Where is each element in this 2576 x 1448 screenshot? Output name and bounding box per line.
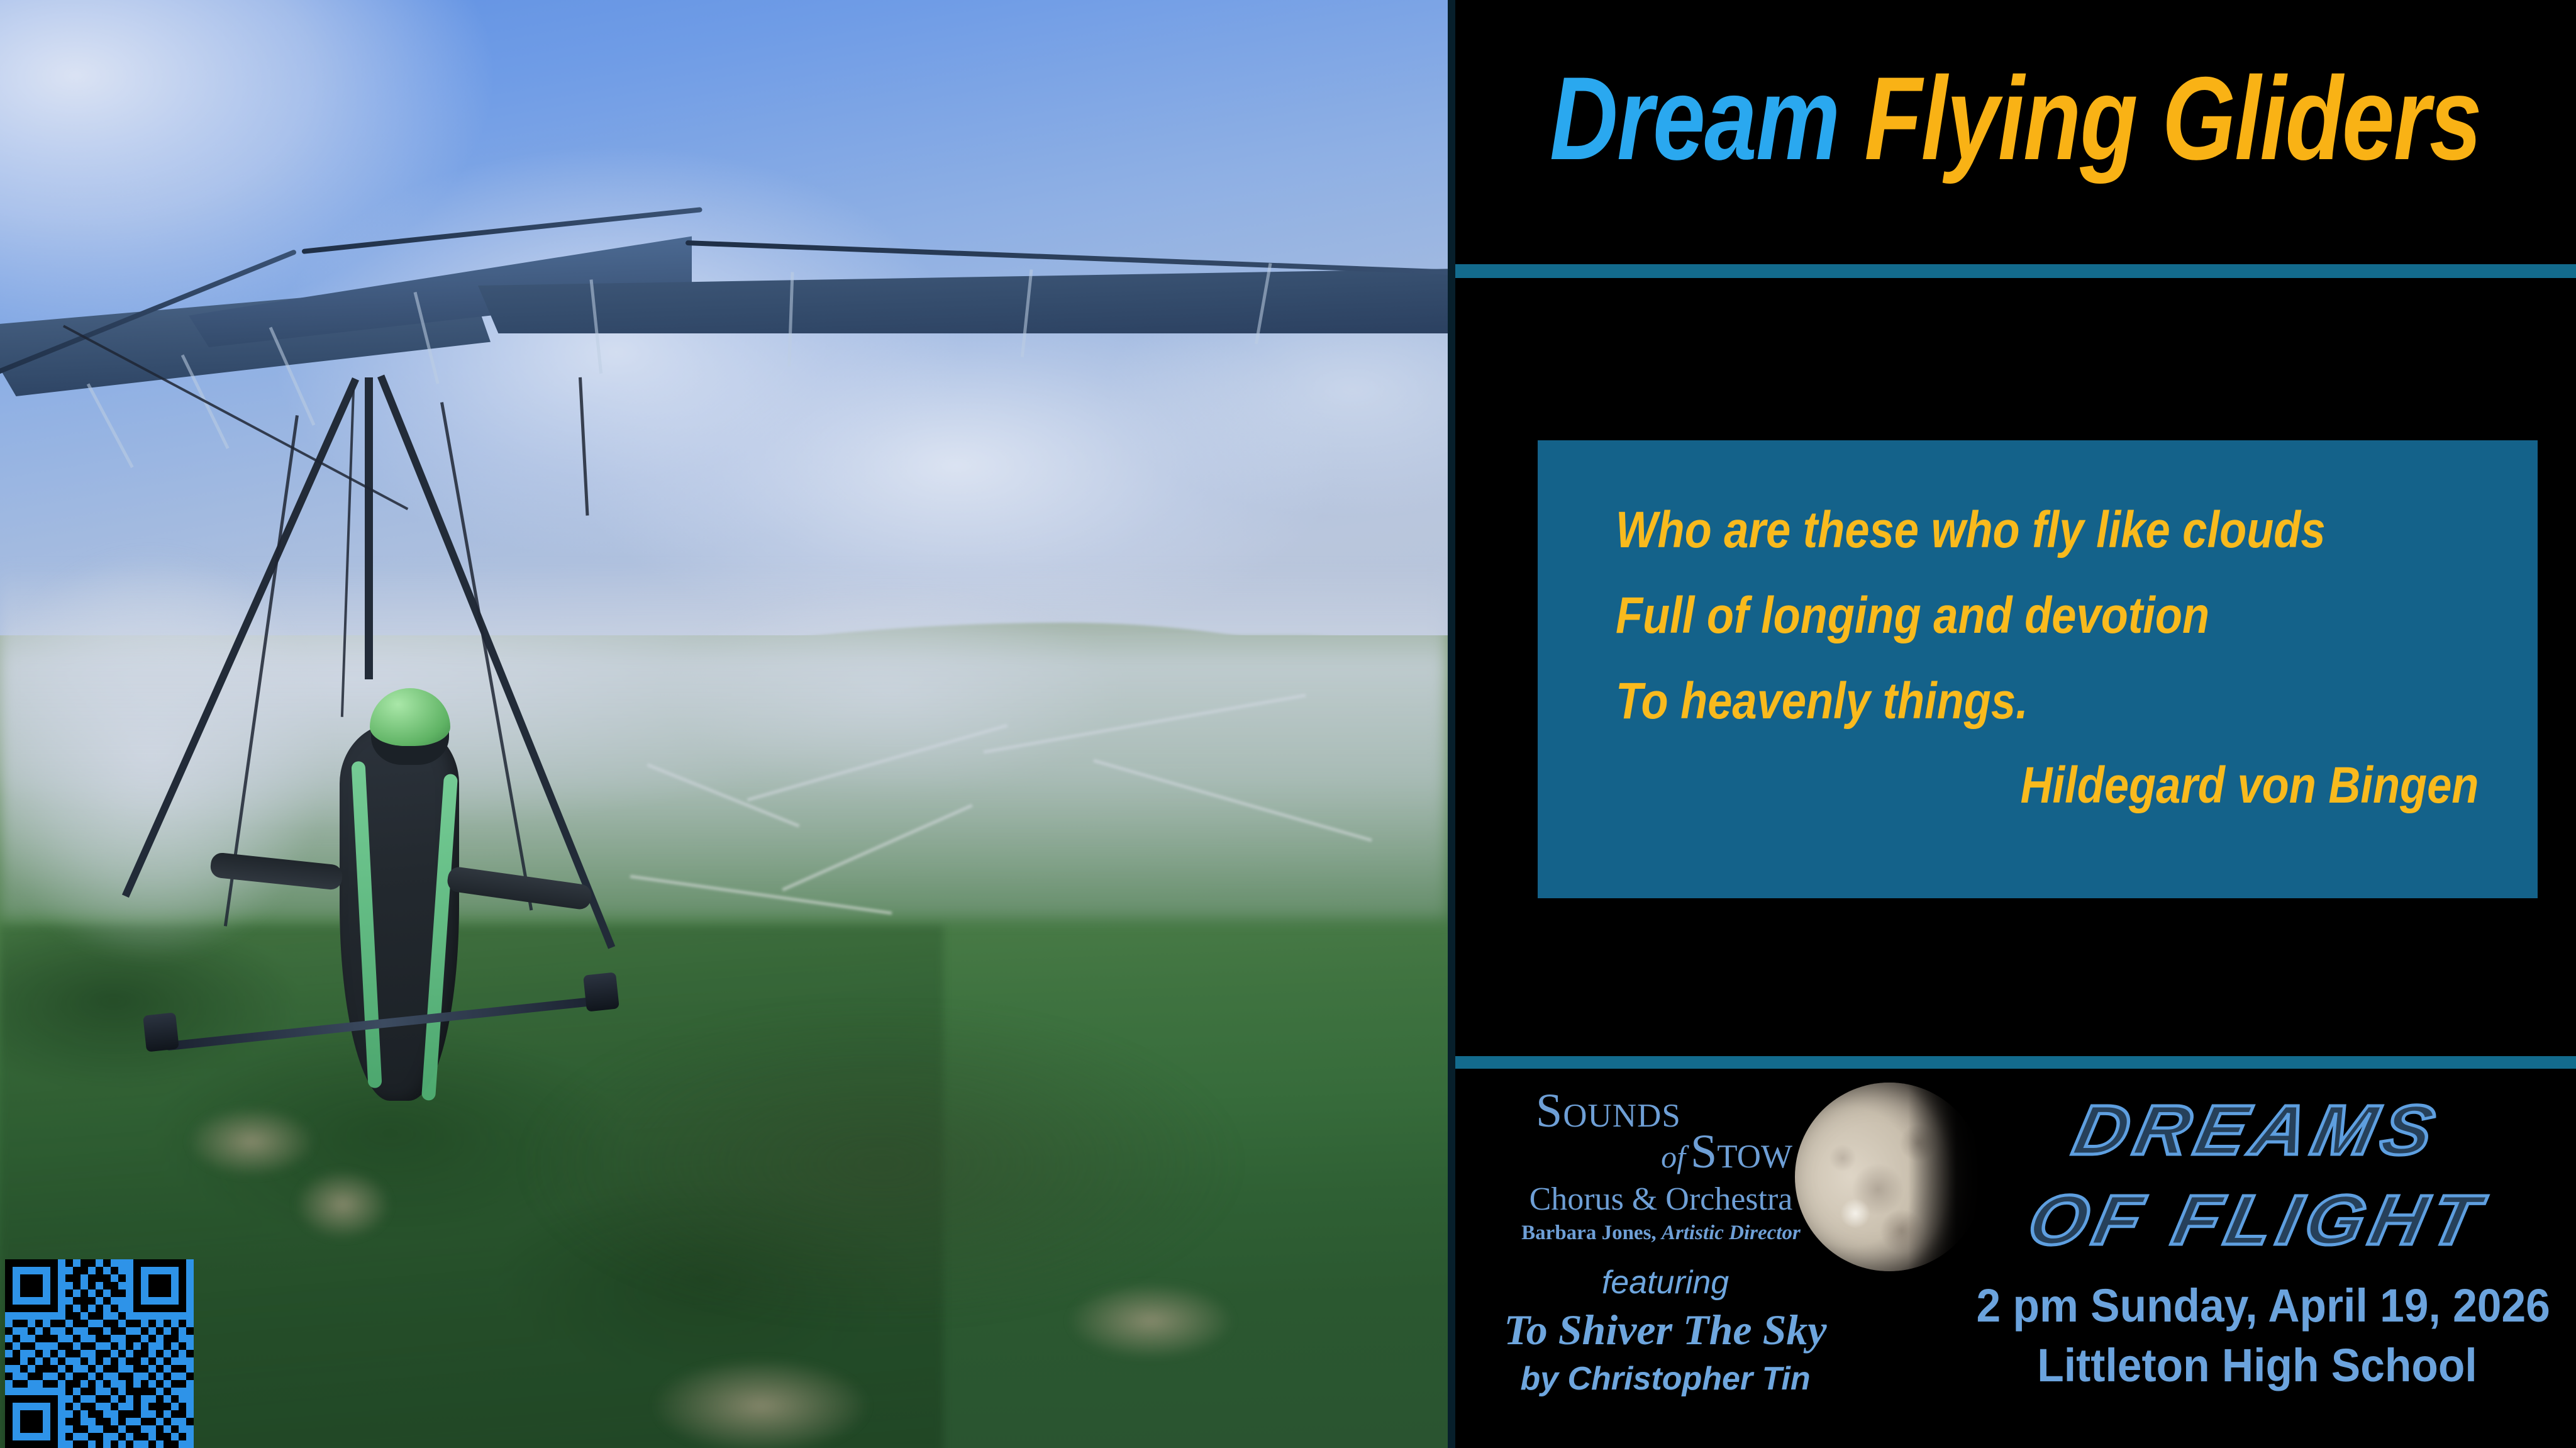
quote-attribution: Hildegard von Bingen xyxy=(2020,756,2479,815)
rock-patch xyxy=(296,1170,390,1239)
quote-line-3: To heavenly things. xyxy=(1616,672,2028,731)
logo-line-chorus-orchestra: Chorus & Orchestra xyxy=(1513,1181,1809,1218)
qr-code-modules xyxy=(5,1259,194,1448)
divider-bottom xyxy=(1455,1056,2576,1069)
footer-bar: Sounds ofStow Chorus & Orchestra Barbara… xyxy=(1455,1069,2576,1448)
quote-line-1: Who are these who fly like clouds xyxy=(1616,501,2326,560)
page-title: Dream Flying Gliders xyxy=(1550,50,2482,186)
concert-title-line-1: DREAMS xyxy=(1931,1085,2576,1175)
concert-title: DREAMS OF FLIGHT xyxy=(1958,1085,2556,1266)
hang-glider-photo xyxy=(0,0,1448,1448)
quote-line-2: Full of longing and devotion xyxy=(1616,586,2209,645)
presentation-slide: Dream Flying Gliders Who are these who f… xyxy=(0,0,2576,1448)
featured-work: featuring To Shiver The Sky by Christoph… xyxy=(1464,1264,1867,1398)
logo-line-director: Barbara Jones, Artistic Director xyxy=(1513,1222,1809,1245)
hang-glider-wing xyxy=(0,208,1448,472)
slide-title-row: Dream Flying Gliders xyxy=(1455,11,2576,225)
sounds-of-stow-logo: Sounds ofStow Chorus & Orchestra Barbara… xyxy=(1513,1088,1809,1245)
logo-word-of: of xyxy=(1661,1139,1685,1174)
work-title: To Shiver The Sky xyxy=(1464,1305,1867,1355)
event-datetime: 2 pm Sunday, April 19, 2026 xyxy=(1977,1276,2538,1336)
director-name: Barbara Jones, xyxy=(1521,1222,1657,1244)
wing-batten xyxy=(87,383,134,468)
pilot-helmet xyxy=(370,688,450,746)
concert-title-line-2: OF FLIGHT xyxy=(1931,1175,2576,1265)
qr-code-icon[interactable] xyxy=(5,1259,194,1448)
rock-patch xyxy=(1069,1283,1233,1359)
title-word-dream: Dream xyxy=(1550,52,1840,184)
valley-shadow xyxy=(440,1006,1446,1447)
hang-glider-pilot xyxy=(264,667,528,1132)
divider-top xyxy=(1455,264,2576,278)
control-bar-end-left xyxy=(143,1012,179,1052)
panel-left-border xyxy=(1448,0,1455,1448)
work-composer: by Christopher Tin xyxy=(1464,1360,1867,1398)
info-panel: Dream Flying Gliders Who are these who f… xyxy=(1455,0,2576,1448)
title-word-flying-gliders: Flying Gliders xyxy=(1865,52,2481,184)
quote-box: Who are these who fly like clouds Full o… xyxy=(1538,440,2538,898)
logo-word-stow: Stow xyxy=(1690,1125,1792,1178)
rock-patch xyxy=(654,1359,868,1448)
director-role: Artistic Director xyxy=(1662,1222,1801,1244)
event-details: 2 pm Sunday, April 19, 2026 Littleton Hi… xyxy=(1958,1276,2556,1395)
control-bar-end-right xyxy=(583,972,619,1011)
event-venue: Littleton High School xyxy=(1977,1336,2538,1396)
glider-kingpost xyxy=(365,377,373,679)
